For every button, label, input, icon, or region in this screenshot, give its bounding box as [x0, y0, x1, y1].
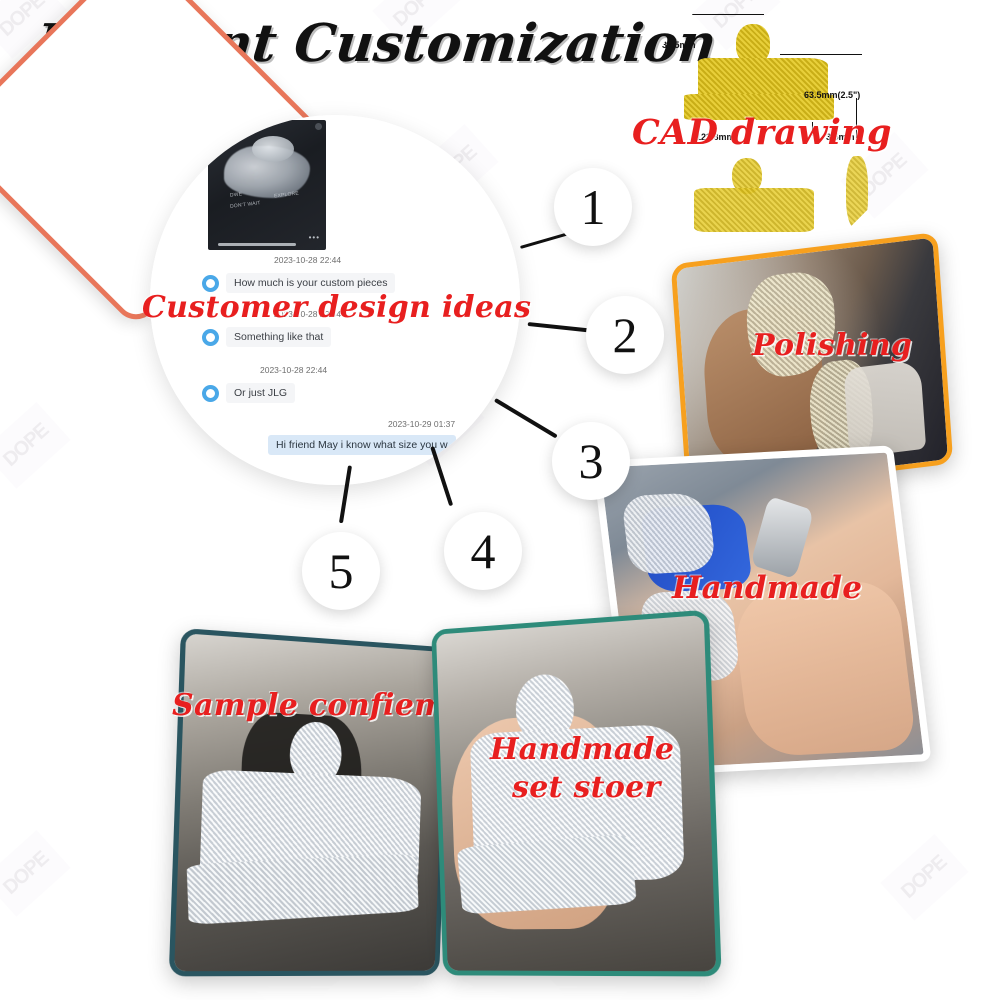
step-number-1[interactable]: 1	[554, 168, 632, 246]
leader-line-2	[528, 322, 590, 332]
cad-leader-line	[780, 54, 862, 55]
cad-dimension-top: 31.5mm	[662, 40, 696, 50]
chat-attached-image: DWE DON'T WAIT EXPLORE •••	[208, 120, 326, 250]
chat-timestamp: 2023-10-29 01:37	[388, 419, 455, 429]
step-number-3[interactable]: 3	[552, 422, 630, 500]
label-polishing: Polishing	[752, 328, 912, 363]
panel-sample-confirm	[169, 628, 451, 976]
step-number-5[interactable]: 5	[302, 532, 380, 610]
step-number-4[interactable]: 4	[444, 512, 522, 590]
label-handmade: Handmade	[672, 570, 862, 606]
avatar	[202, 385, 219, 402]
label-sample-confirm: Sample confiem	[172, 688, 446, 723]
sample-photo	[174, 633, 446, 971]
chat-timestamp: 2023-10-28 22:44	[260, 365, 327, 375]
image-progress-bar	[218, 243, 296, 246]
label-customer-design-ideas: Customer design ideas	[142, 290, 531, 325]
chat-image-caption-1: DWE	[230, 191, 243, 198]
cloth-shape	[843, 360, 926, 458]
hand-shape	[730, 580, 917, 758]
infographic-canvas: DOPE DOPE DOPE DOPE DOPE DOPE DOPE DOPE …	[0, 0, 1000, 1000]
avatar	[202, 329, 219, 346]
chat-image-caption-2: DON'T WAIT	[230, 200, 261, 210]
image-badge-icon	[315, 123, 322, 130]
label-set-stone-line2: set stoer	[512, 770, 661, 805]
gemstone-shape	[621, 492, 717, 575]
pendant-subtext-shape	[457, 833, 637, 914]
cad-dimension-right: 63.5mm(2.5")	[804, 90, 860, 100]
chat-timestamp: 23-10-29 01:42	[150, 471, 204, 481]
cad-letter-shape-2	[694, 188, 814, 232]
chat-bubble: Or just JLG	[226, 383, 295, 403]
pendant-bail-photo-shape	[252, 136, 294, 162]
cad-side-view-shape	[846, 156, 868, 228]
watermark: DOPE	[888, 852, 961, 903]
chat-bubble: Something like that	[226, 327, 331, 347]
chat-timestamp: 2023-10-28 22:44	[274, 255, 341, 265]
engraver-tool-shape	[750, 495, 814, 578]
chat-bubble-outgoing: Hi friend May i know what size you w	[268, 435, 456, 455]
watermark: DOPE	[0, 420, 63, 471]
watermark: DOPE	[0, 848, 63, 899]
label-cad-drawing: CAD drawing	[632, 112, 892, 153]
label-set-stone-line1: Handmade	[490, 732, 674, 767]
image-more-dots: •••	[309, 233, 320, 242]
pendant-subtext-shape	[187, 854, 419, 925]
step-number-2[interactable]: 2	[586, 296, 664, 374]
cad-leader-line	[692, 14, 764, 15]
